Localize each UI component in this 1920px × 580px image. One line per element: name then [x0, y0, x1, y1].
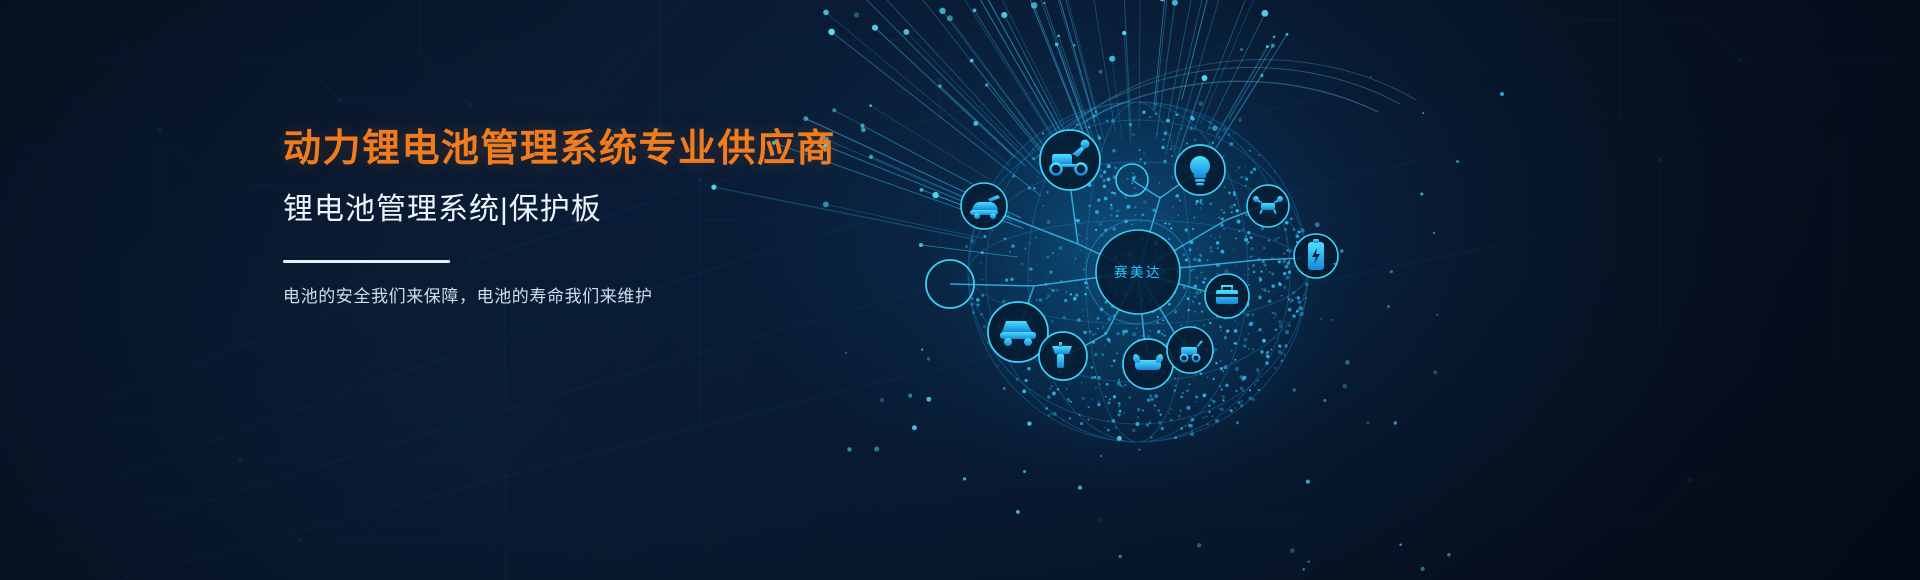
page-tagline: 电池的安全我们来保障，电池的寿命我们来维护	[283, 285, 903, 309]
node-car[interactable]	[961, 183, 1007, 229]
node-lightbulb[interactable]	[1175, 145, 1225, 195]
globe-graphic: 赛美达	[838, 0, 1458, 580]
node-mobility[interactable]	[1167, 327, 1213, 373]
node-drill[interactable]	[1039, 332, 1087, 380]
node-vacuum[interactable]	[1123, 339, 1173, 389]
hero-text-block: 动力锂电池管理系统专业供应商 锂电池管理系统|保护板 电池的安全我们来保障，电池…	[283, 128, 903, 308]
divider-rule	[283, 260, 450, 263]
node-scooter[interactable]	[1040, 130, 1100, 190]
node-battery[interactable]	[1294, 234, 1338, 278]
globe-svg: 赛美达	[838, 0, 1458, 580]
node-drone[interactable]	[1247, 185, 1289, 227]
hero-banner: 赛美达	[0, 0, 1920, 580]
hub-label: 赛美达	[1114, 265, 1162, 280]
node-toolbox[interactable]	[1205, 274, 1249, 318]
page-title: 动力锂电池管理系统专业供应商	[283, 128, 903, 172]
sparkle-dot	[1500, 92, 1504, 96]
battery-icon	[1308, 239, 1324, 270]
page-subtitle: 锂电池管理系统|保护板	[283, 192, 903, 228]
